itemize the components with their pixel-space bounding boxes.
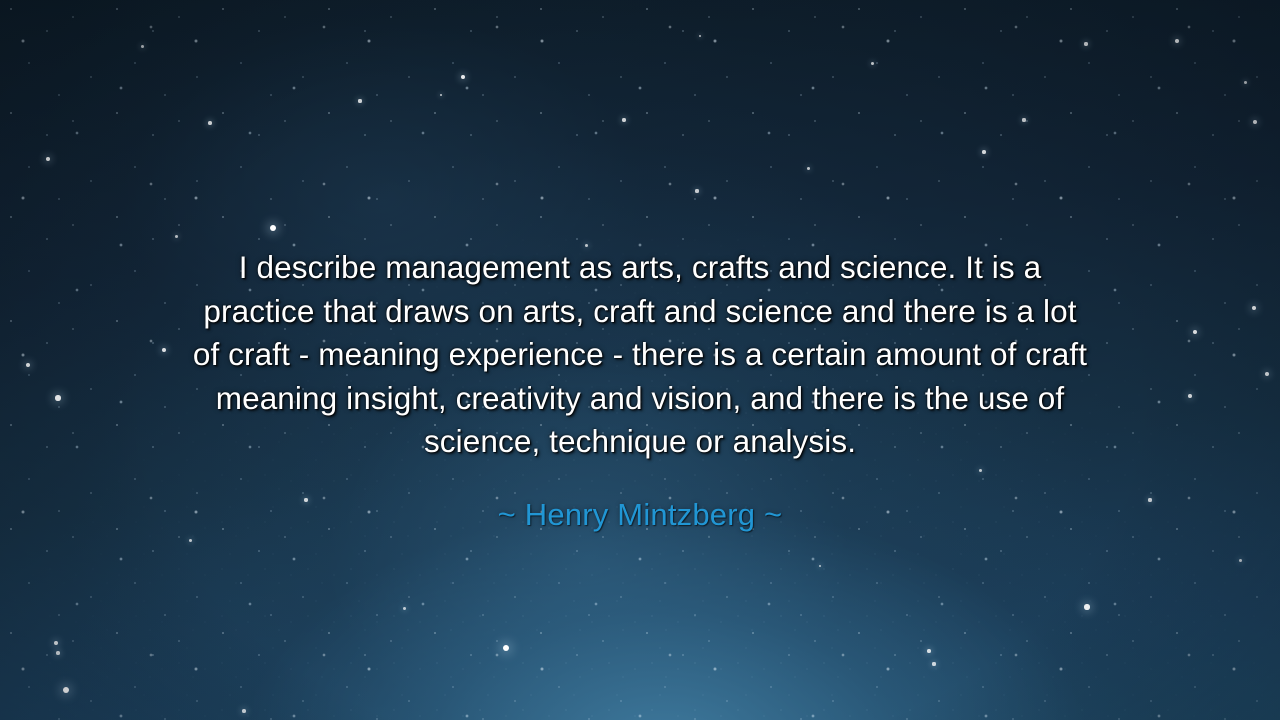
quote-line-2: practice that draws on arts, craft and s… (203, 293, 1076, 329)
quote-text: I describe management as arts, crafts an… (110, 246, 1170, 464)
quote-slide: I describe management as arts, crafts an… (0, 0, 1280, 720)
quote-line-3: of craft - meaning experience - there is… (193, 336, 1087, 372)
quote-attribution: ~ Henry Mintzberg ~ (60, 496, 1220, 534)
quote-line-1: I describe management as arts, crafts an… (239, 249, 1041, 285)
quote-line-4: meaning insight, creativity and vision, … (216, 380, 1065, 416)
quote-block: I describe management as arts, crafts an… (0, 246, 1280, 534)
quote-line-5: science, technique or analysis. (424, 423, 856, 459)
